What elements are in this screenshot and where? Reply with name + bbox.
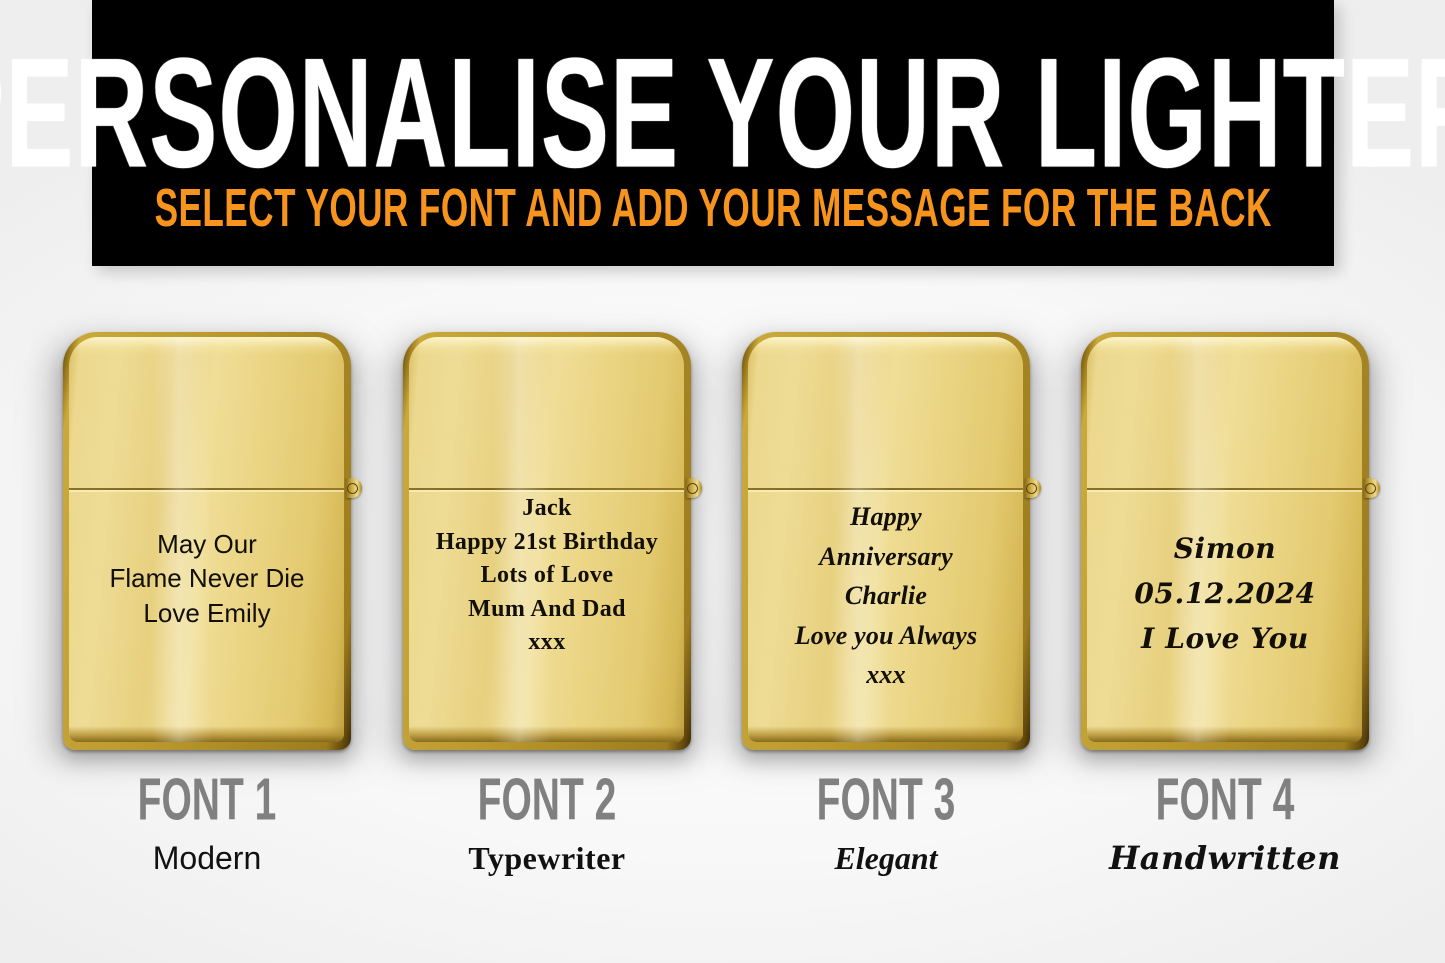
- lighter-face: [1087, 337, 1362, 742]
- font-name-label-4: Handwritten: [1081, 842, 1369, 874]
- lighter-face: [748, 337, 1023, 742]
- font-number-label-3: FONT 3: [774, 770, 999, 829]
- lighter-cap-gloss-icon: [748, 337, 1023, 355]
- lighter-bottom-band: [69, 726, 344, 742]
- banner-title: PERSONALISE YOUR LIGHTER: [0, 36, 1445, 192]
- lighter-option-font-2[interactable]: Jack Happy 21st Birthday Lots of Love Mu…: [403, 332, 691, 750]
- lighter-option-font-4[interactable]: Simon 05.12.2024 I Love You: [1081, 332, 1369, 750]
- lighter-body[interactable]: Jack Happy 21st Birthday Lots of Love Mu…: [403, 332, 691, 750]
- lighter-face: [409, 337, 684, 742]
- lighter-cap-gloss-icon: [69, 337, 344, 355]
- lighter-bottom-band: [748, 726, 1023, 742]
- caption-font-1: FONT 1 Modern: [63, 770, 351, 874]
- lighter-body[interactable]: May Our Flame Never Die Love Emily: [63, 332, 351, 750]
- lighter-face: [69, 337, 344, 742]
- lighter-cap-gloss-icon: [409, 337, 684, 355]
- lighter-bottom-band: [409, 726, 684, 742]
- lighter-body[interactable]: Happy Anniversary Charlie Love you Alway…: [742, 332, 1030, 750]
- font-name-label-1: Modern: [63, 842, 351, 874]
- caption-font-3: FONT 3 Elegant: [742, 770, 1030, 874]
- font-number-label-4: FONT 4: [1113, 770, 1338, 829]
- lighter-cap-gloss-icon: [1087, 337, 1362, 355]
- lighter-hinge-seam-highlight: [409, 490, 684, 492]
- font-name-label-2: Typewriter: [403, 842, 691, 874]
- lighter-body[interactable]: Simon 05.12.2024 I Love You: [1081, 332, 1369, 750]
- caption-font-4: FONT 4 Handwritten: [1081, 770, 1369, 874]
- font-name-label-3: Elegant: [742, 842, 1030, 874]
- lighter-bottom-band: [1087, 726, 1362, 742]
- lighter-option-font-3[interactable]: Happy Anniversary Charlie Love you Alway…: [742, 332, 1030, 750]
- font-number-label-2: FONT 2: [435, 770, 660, 829]
- lighter-hinge-seam-highlight: [69, 490, 344, 492]
- promo-banner: PERSONALISE YOUR LIGHTER SELECT YOUR FON…: [92, 0, 1334, 266]
- lighter-hinge-seam-highlight: [1087, 490, 1362, 492]
- banner-subtitle: SELECT YOUR FONT AND ADD YOUR MESSAGE FO…: [154, 182, 1271, 236]
- caption-font-2: FONT 2 Typewriter: [403, 770, 691, 874]
- lighter-hinge-seam-highlight: [748, 490, 1023, 492]
- lighter-option-font-1[interactable]: May Our Flame Never Die Love Emily: [63, 332, 351, 750]
- font-number-label-1: FONT 1: [95, 770, 320, 829]
